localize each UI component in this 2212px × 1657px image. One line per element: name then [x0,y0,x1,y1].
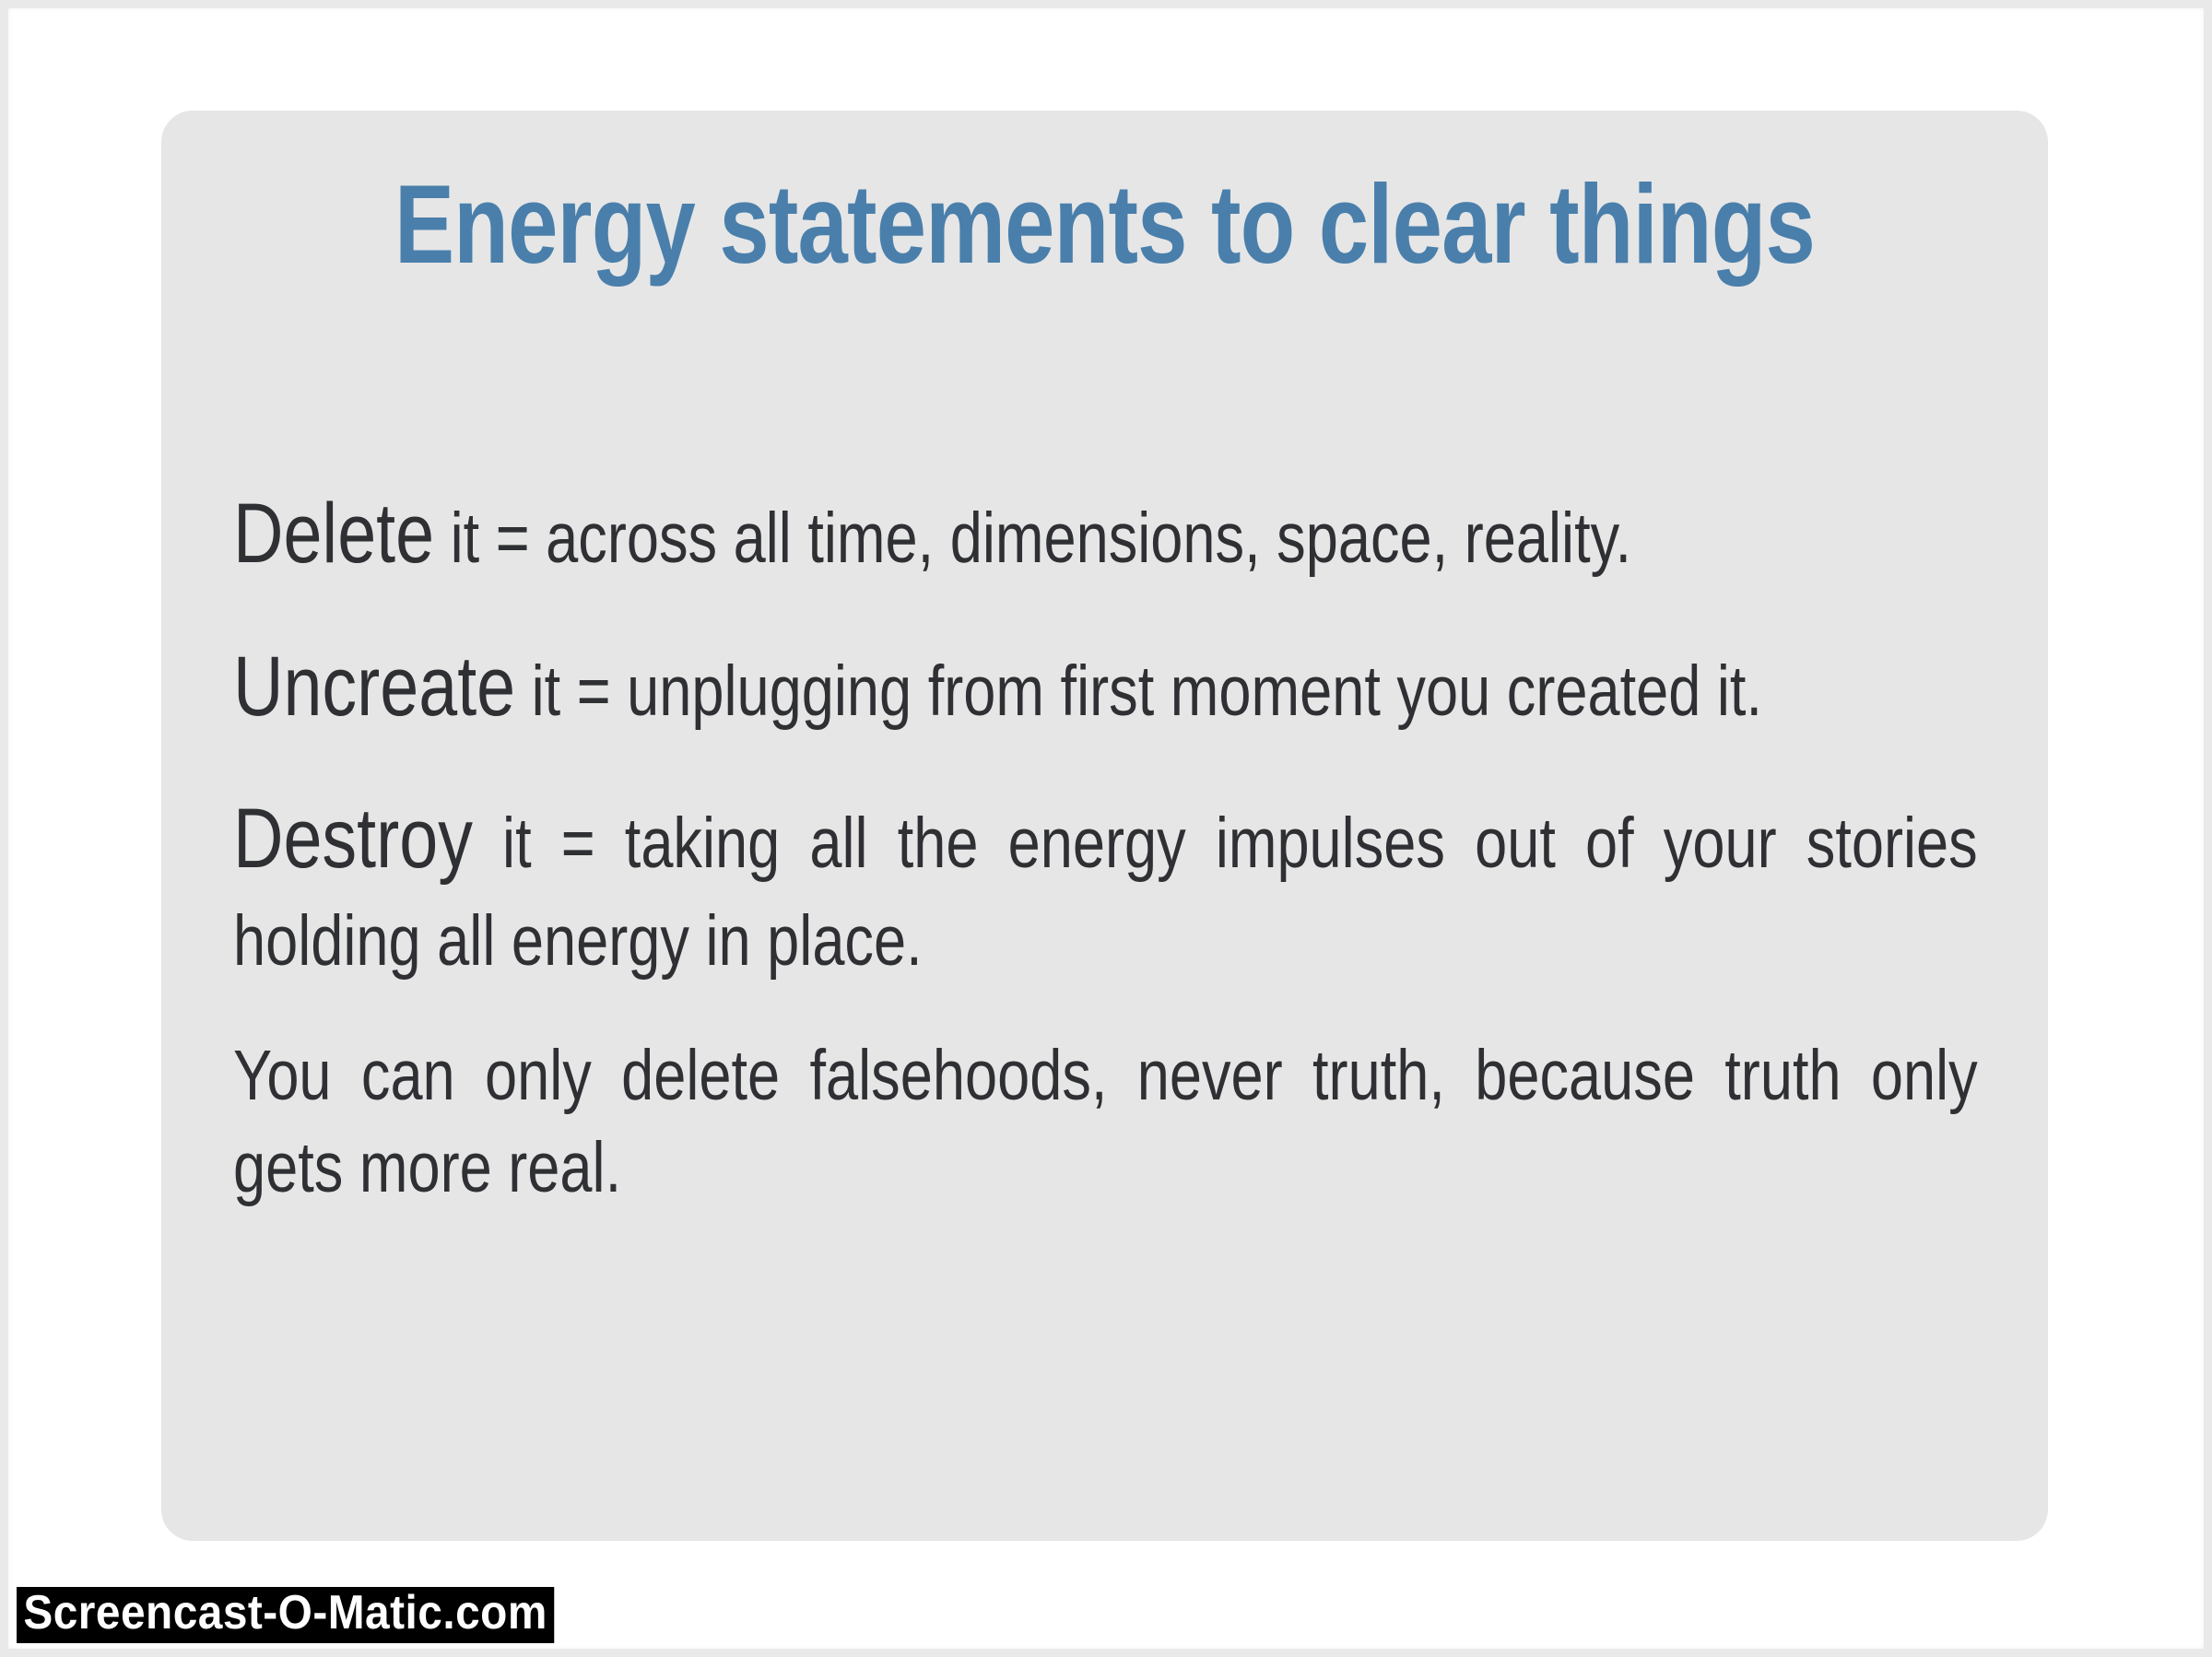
statement-text: it = across all time, dimensions, space,… [434,499,1631,578]
frame-border-bottom [0,1649,2212,1657]
statement-list: Delete it = across all time, dimensions,… [233,479,1977,1214]
frame-border-right [2204,0,2212,1657]
statement-lead-word: Destroy [233,792,473,886]
statement-delete: Delete it = across all time, dimensions,… [233,479,1978,590]
slide-card: Energy statements to clear things Delete… [161,111,2048,1541]
statement-lead-word: Delete [233,487,434,581]
statement-destroy: Destroy it = taking all the energy impul… [233,784,1978,987]
slide-title: Energy statements to clear things [350,168,1860,280]
statement-lead-word: Uncreate [233,640,515,734]
frame-border-left [0,0,8,1657]
frame-border-top [0,0,2212,8]
statement-text: it = taking all the energy impulses out … [233,804,1978,981]
statement-text: it = unplugging from first moment you cr… [515,652,1762,731]
screencast-o-matic-watermark: Screencast-O-Matic.com [17,1587,554,1643]
slide-screenshot: Energy statements to clear things Delete… [0,0,2212,1657]
statement-uncreate: Uncreate it = unplugging from first mome… [233,632,1978,743]
statement-text: You can only delete falsehoods, never tr… [233,1036,1978,1207]
statement-truth: You can only delete falsehoods, never tr… [233,1029,1978,1214]
